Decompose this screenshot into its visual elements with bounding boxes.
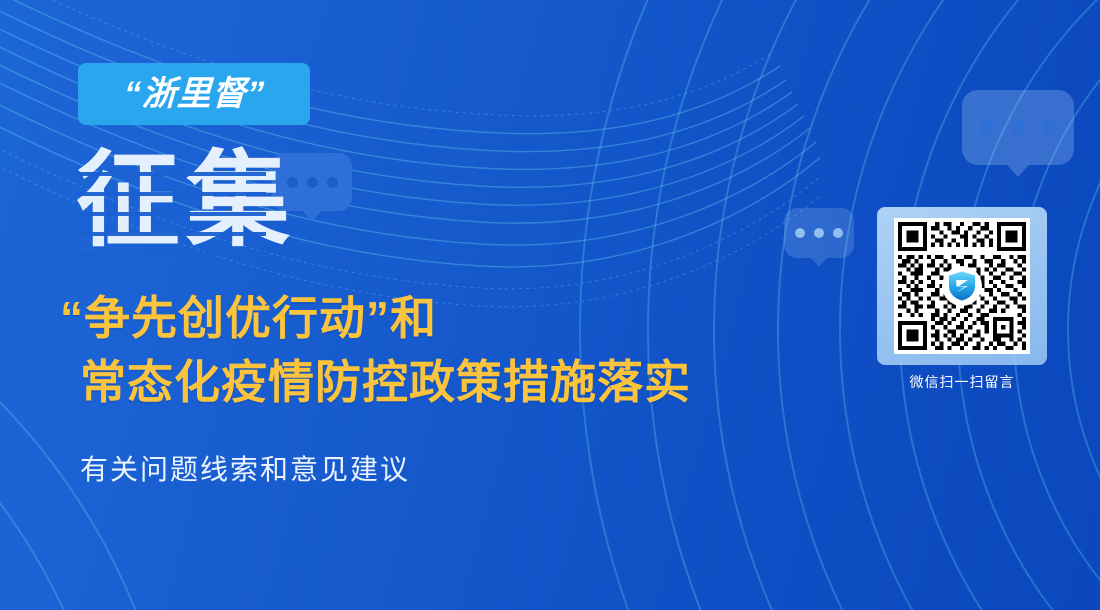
slogan-line-2: 常态化疫情防控政策措施落实 (60, 350, 691, 414)
shield-logo-icon (942, 266, 982, 306)
qr-caption: 微信扫一扫留言 (877, 372, 1047, 392)
qr-panel[interactable] (877, 207, 1047, 365)
bubble-dot (307, 177, 318, 188)
promo-banner: “浙里督” 征集 “争先创优行动”和 常态化疫情防控政策措施落实 有关问题线索和… (0, 0, 1100, 610)
bubble-dot (980, 120, 995, 135)
bubble-dot (1042, 120, 1057, 135)
page-title: 征集 (76, 146, 296, 268)
qr-code-icon[interactable] (894, 218, 1030, 354)
program-badge-label: “浙里督” (123, 77, 265, 111)
slogan: “争先创优行动”和 常态化疫情防控政策措施落实 (60, 286, 691, 414)
speech-bubble-icon-mid (784, 208, 854, 258)
speech-bubble-icon-large (962, 90, 1074, 165)
subcaption: 有关问题线索和意见建议 (80, 450, 410, 490)
bubble-dot (795, 228, 805, 238)
slogan-line-1: “争先创优行动”和 (60, 286, 691, 350)
program-badge: “浙里督” (78, 63, 310, 125)
bubble-dot (1011, 120, 1026, 135)
bubble-body (962, 90, 1074, 165)
bubble-dot (833, 228, 843, 238)
bubble-body (784, 208, 854, 258)
page-title-text: 征集 (76, 146, 296, 254)
bubble-dot (814, 228, 824, 238)
bubble-dot (327, 177, 338, 188)
